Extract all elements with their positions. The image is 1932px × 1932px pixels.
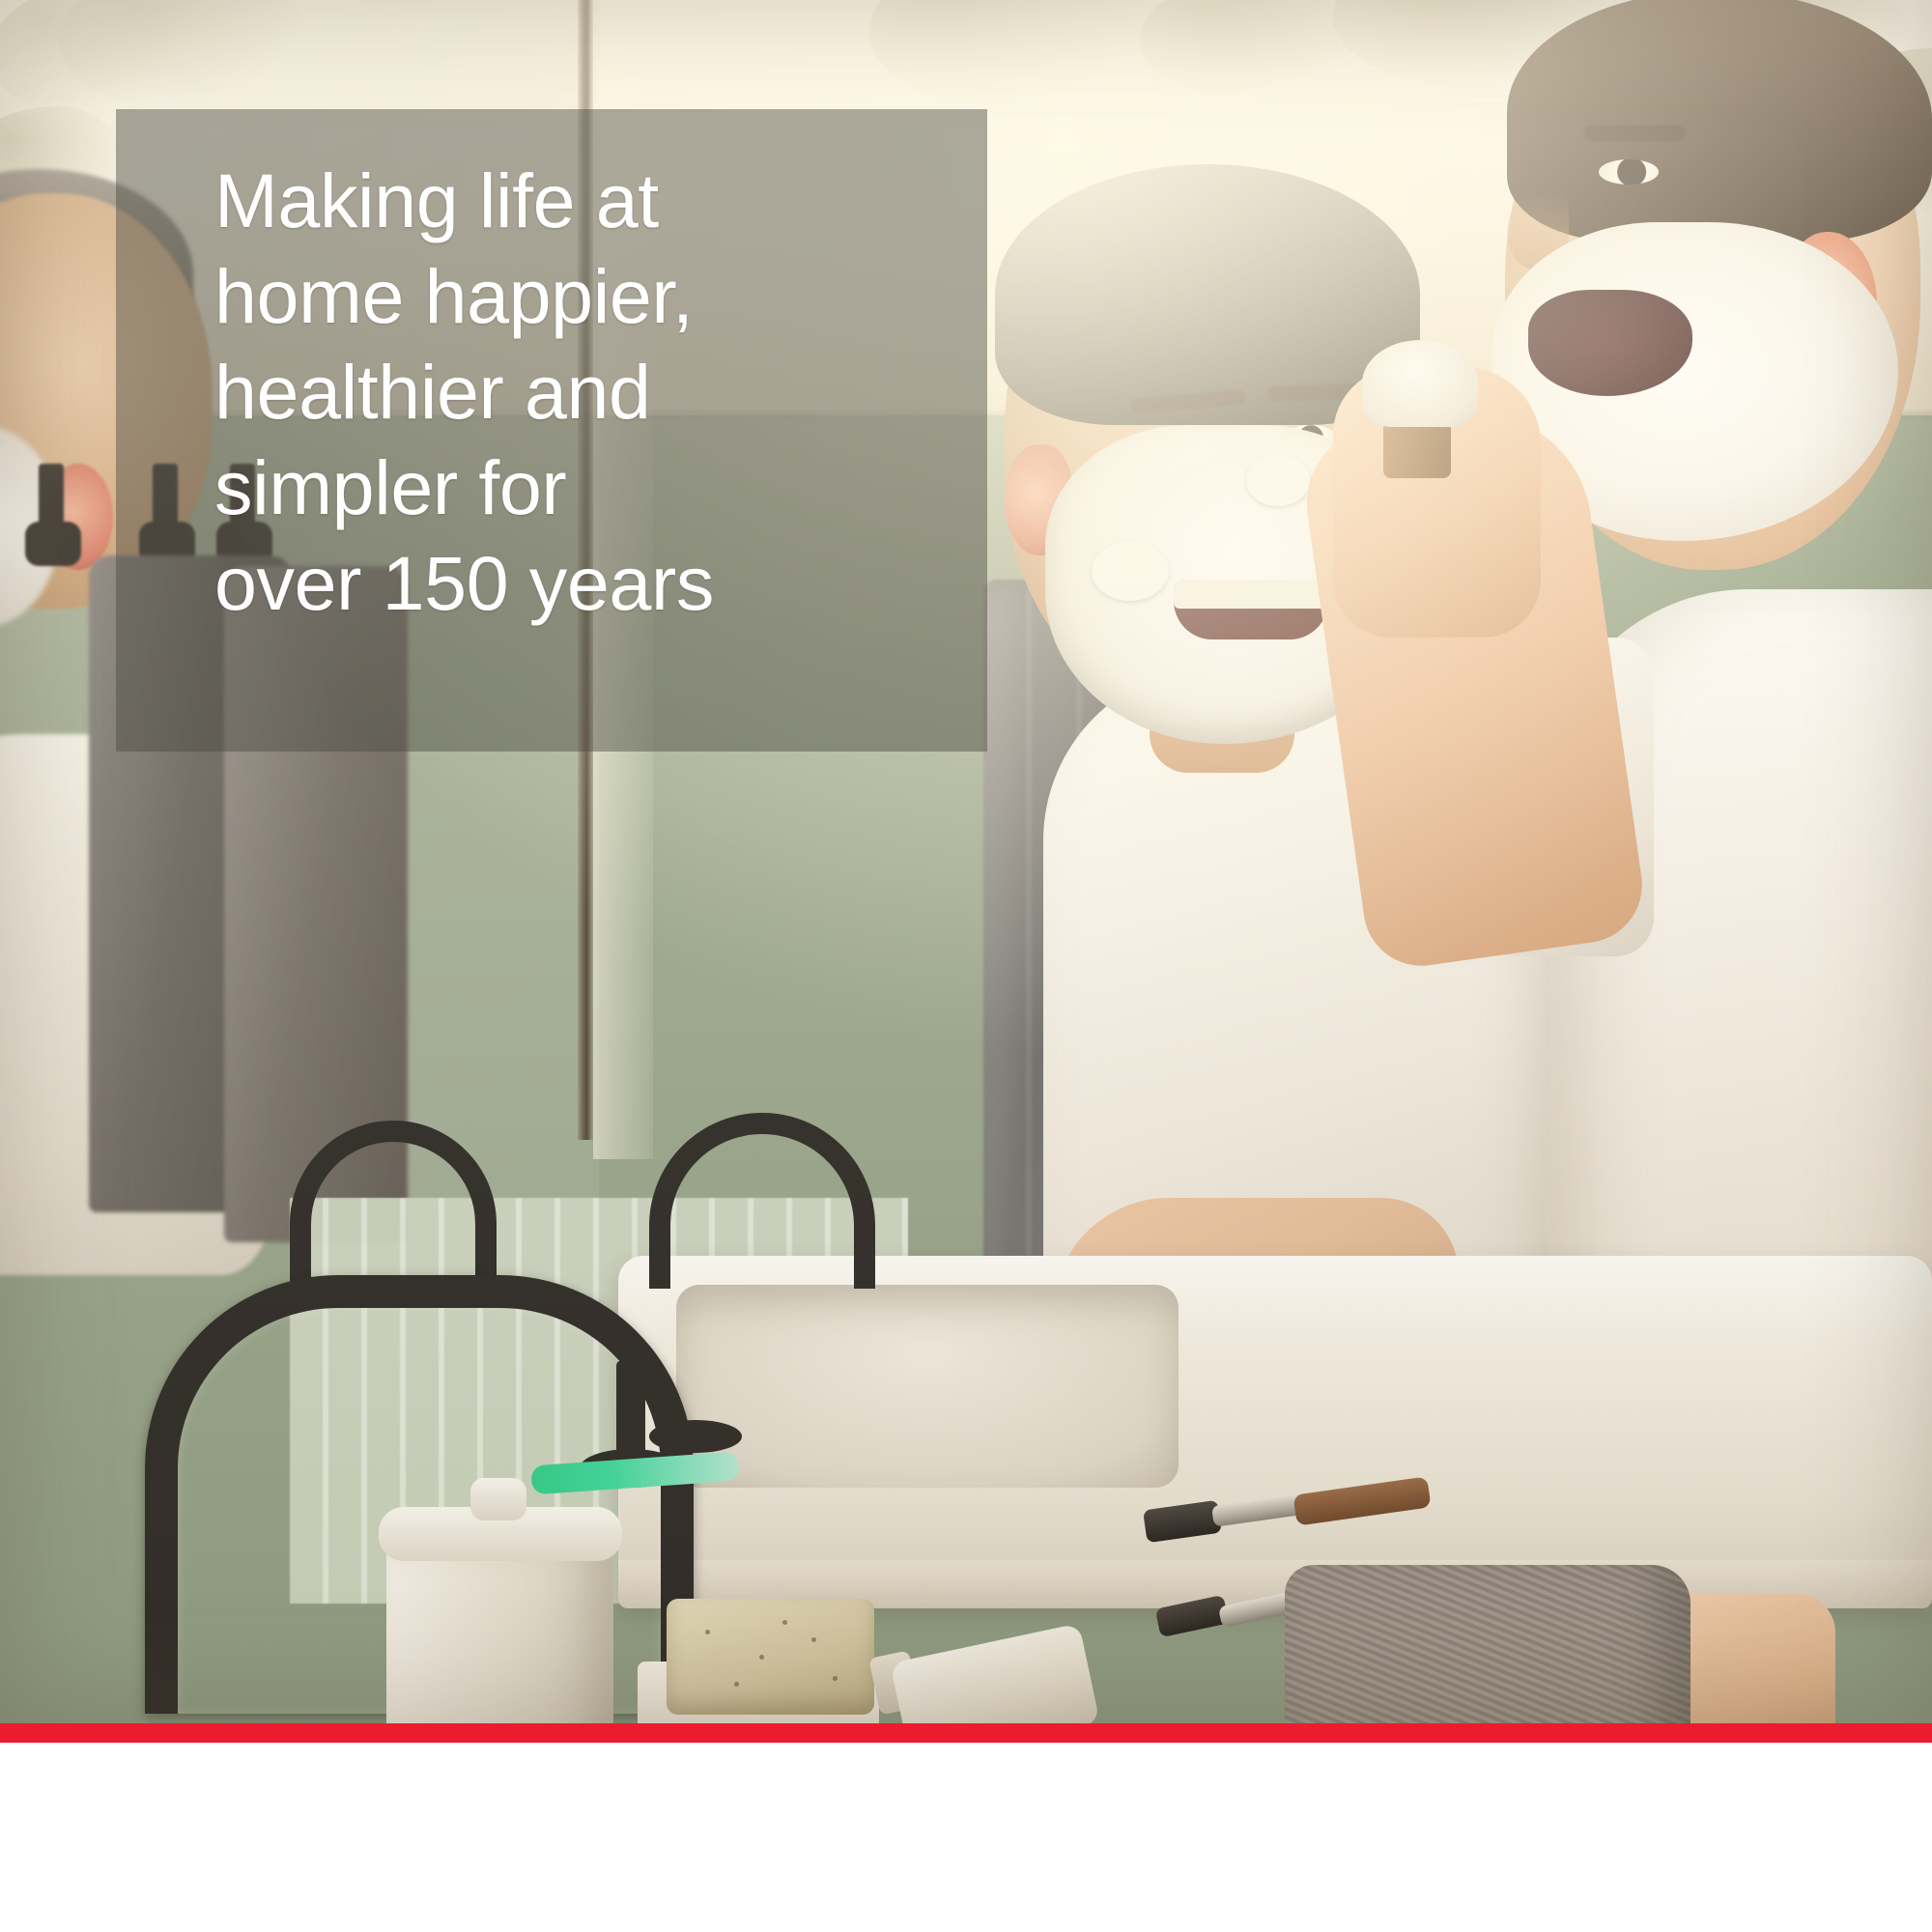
canister-knob: [470, 1478, 526, 1520]
soap-speck: [833, 1676, 838, 1681]
footer-bar: American Standard: [0, 1743, 1932, 1932]
soap-speck: [734, 1682, 739, 1687]
hero-photo: Making life at home happier, healthier a…: [0, 0, 1932, 1723]
father-teeth: [1174, 580, 1328, 609]
bar-of-soap: [667, 1599, 874, 1715]
faucet-valve-handle: [616, 1360, 645, 1466]
soap-speck: [705, 1630, 710, 1634]
sink-basin: [676, 1285, 1179, 1488]
boy-eye: [1599, 159, 1659, 185]
ceramic-canister: [386, 1534, 613, 1723]
folded-hand-towel: [1285, 1565, 1690, 1723]
brand-red-divider: [0, 1723, 1932, 1743]
headline-text: Making life at home happier, healthier a…: [214, 153, 1007, 631]
leaf-shadow: [869, 0, 1159, 106]
shaving-brush-head: [1362, 340, 1478, 427]
advertisement-canvas: Making life at home happier, healthier a…: [0, 0, 1932, 1932]
wall-hook: [25, 522, 81, 566]
foam-blob: [1092, 541, 1169, 601]
soap-speck: [782, 1620, 787, 1625]
boy-hair: [1507, 0, 1932, 241]
father-mouth: [1174, 580, 1328, 639]
soap-speck: [811, 1637, 816, 1642]
foam-blob: [1246, 454, 1310, 506]
boy-eyebrow: [1584, 126, 1686, 141]
faucet-valve-base: [649, 1420, 742, 1453]
soap-speck: [759, 1655, 764, 1660]
